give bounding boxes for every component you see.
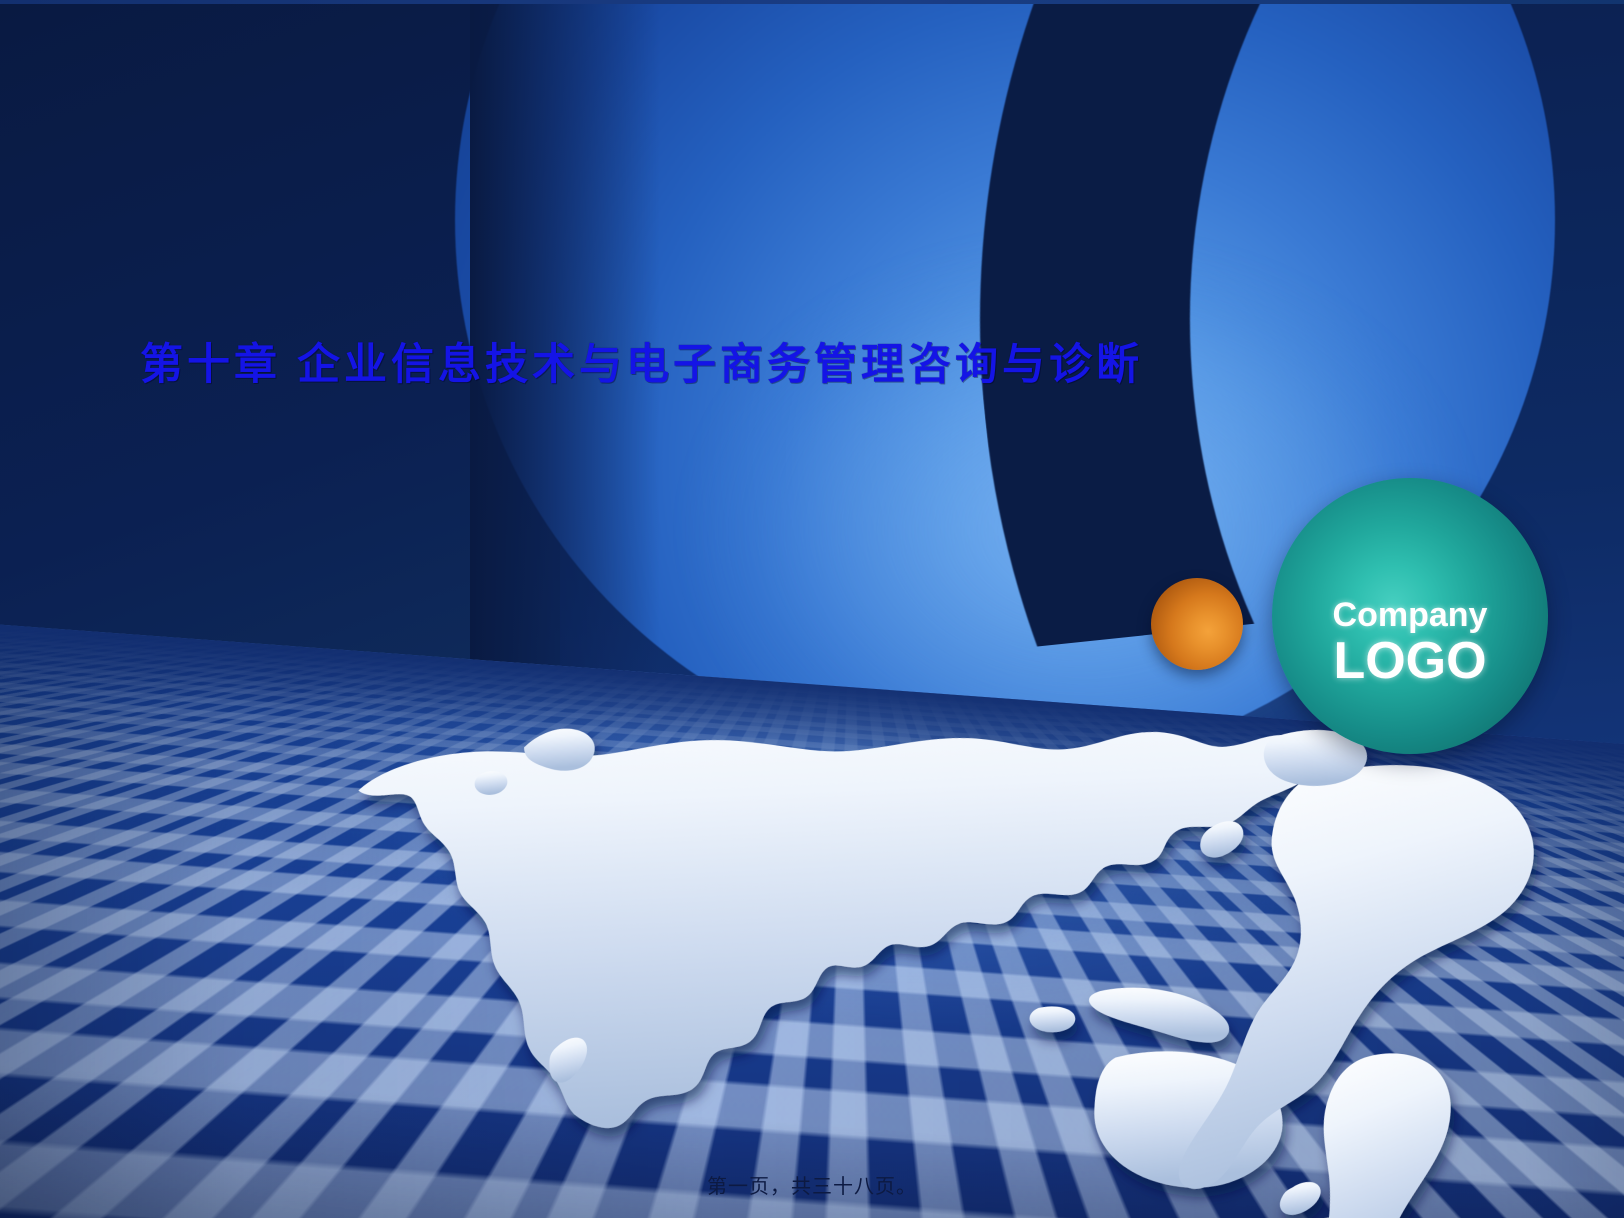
background-top-edge <box>0 0 1624 4</box>
orange-sphere-accent <box>1151 578 1243 670</box>
company-logo[interactable]: Company LOGO <box>1272 478 1548 754</box>
logo-company-label: Company <box>1333 598 1488 634</box>
slide-footer-page-number: 第一页，共三十八页。 <box>0 1170 1624 1199</box>
logo-word-label: LOGO <box>1333 634 1486 689</box>
presentation-slide: 第十章 企业信息技术与电子商务管理咨询与诊断 Company LOGO 第一页，… <box>0 0 1624 1218</box>
page-title: 第十章 企业信息技术与电子商务管理咨询与诊断 <box>140 330 1270 392</box>
